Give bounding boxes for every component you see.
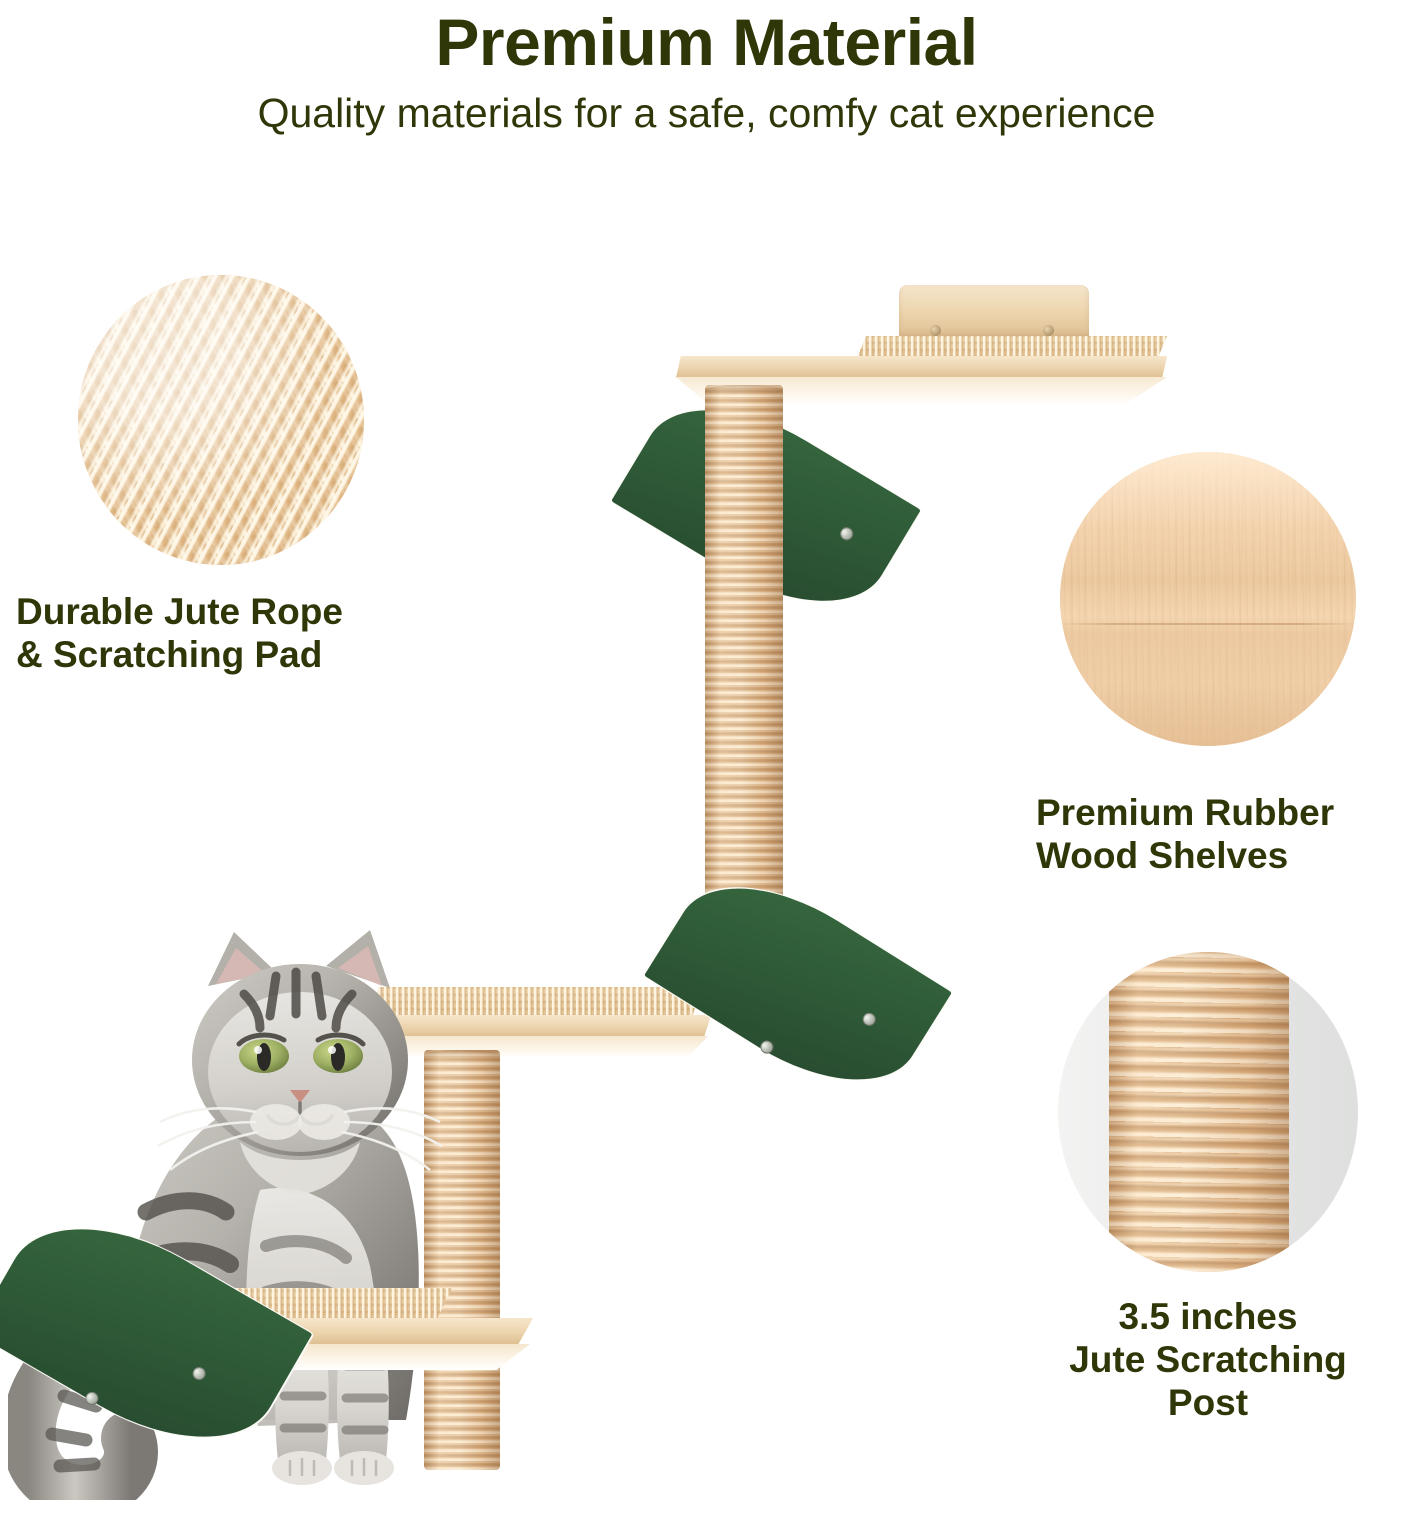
- callout-jute-scratching-post: 3.5 inches Jute Scratching Post: [1058, 952, 1358, 1425]
- post-cylinder-texture: [1109, 952, 1289, 1272]
- top-shelf-backrest-screw-left: [930, 325, 941, 336]
- bottom-leaf-shape: [0, 1186, 312, 1479]
- wood-grain-texture: [1060, 452, 1356, 746]
- rubber-wood-swatch-icon: [1060, 452, 1356, 746]
- top-shelf-backrest-screw-right: [1043, 325, 1054, 336]
- callout-jute-scratching-post-label: 3.5 inches Jute Scratching Post: [1058, 1296, 1358, 1425]
- callout-jute-rope-pad-label: Durable Jute Rope & Scratching Pad: [16, 591, 364, 677]
- callout-rubber-wood-shelves: Premium Rubber Wood Shelves: [1060, 452, 1356, 878]
- post-closeup-background: [1058, 952, 1358, 1272]
- middle-leaf-panel: [639, 833, 958, 1135]
- top-shelf-jute-mat: [857, 336, 1167, 358]
- top-shelf-board: [676, 356, 1167, 378]
- top-shelf-backrest: [899, 285, 1089, 337]
- header: Premium Material Quality materials for a…: [0, 0, 1413, 136]
- callout-rubber-wood-shelves-label: Premium Rubber Wood Shelves: [1036, 792, 1356, 878]
- page-subtitle: Quality materials for a safe, comfy cat …: [0, 77, 1413, 136]
- jute-post-swatch-icon: [1058, 952, 1358, 1272]
- jute-rope-swatch-icon: [78, 275, 364, 565]
- upper-post-top-cap: [705, 385, 783, 395]
- page-title: Premium Material: [0, 0, 1413, 77]
- middle-leaf-shape: [644, 849, 952, 1118]
- callout-jute-rope-pad: Durable Jute Rope & Scratching Pad: [78, 275, 364, 677]
- jute-weave-texture: [78, 275, 364, 565]
- upper-jute-post: [705, 385, 783, 910]
